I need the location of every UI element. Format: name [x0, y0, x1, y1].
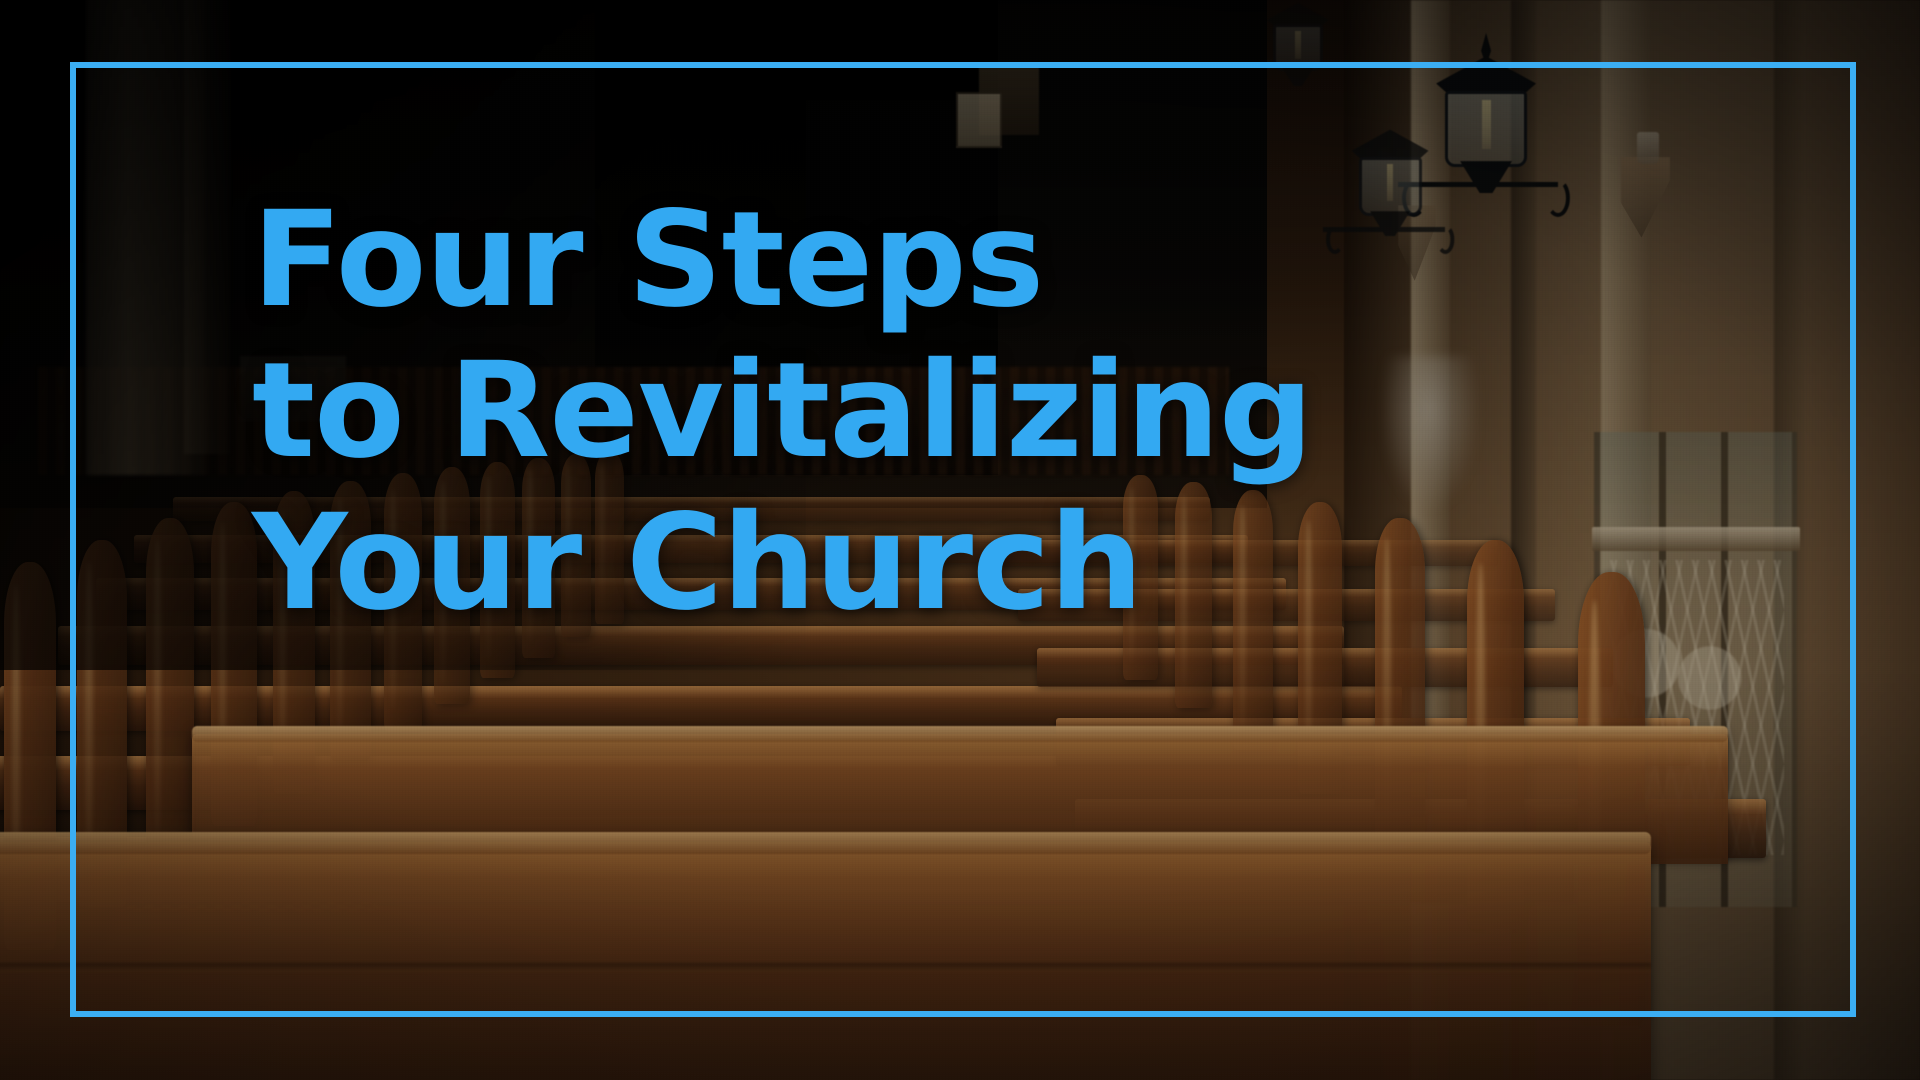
- headline-line-2: to Revitalizing: [252, 347, 1372, 476]
- headline-line-1: Four Steps: [252, 196, 1372, 325]
- page-title: Four Steps to Revitalizing Your Church: [252, 196, 1372, 628]
- headline-line-3: Your Church: [252, 499, 1372, 628]
- title-card: Four Steps to Revitalizing Your Church: [0, 0, 1920, 1080]
